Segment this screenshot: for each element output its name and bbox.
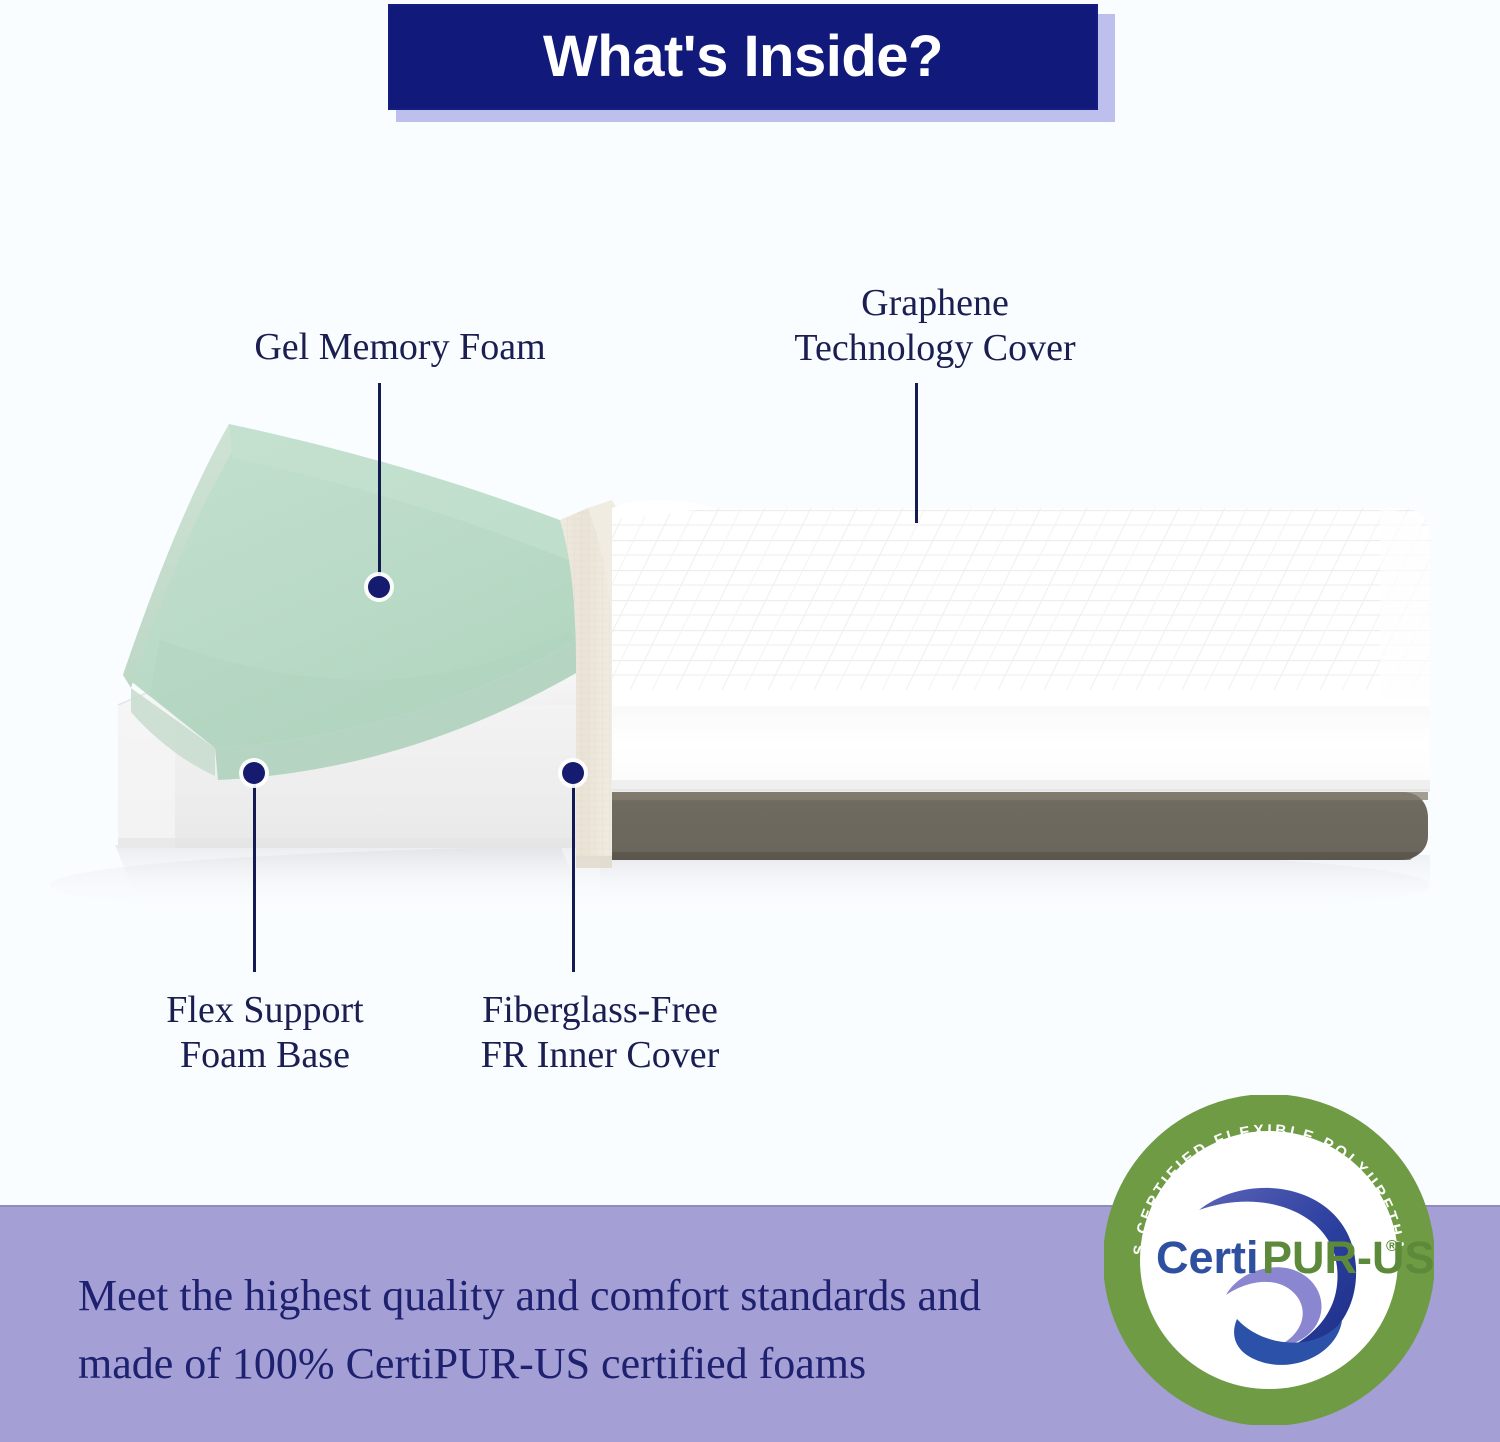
badge-wordmark-purus: PUR-US: [1262, 1232, 1434, 1283]
mattress-base-band: [612, 792, 1428, 860]
callout-dot-gel-memory-foam: [368, 576, 390, 598]
callout-leader-flex-support-foam-base: [253, 782, 256, 972]
infographic-canvas: What's Inside?: [0, 0, 1500, 1442]
certipur-us-badge: CONTAINS CERTIFIED FLEXIBLE POLYURETHANE…: [1104, 1095, 1434, 1425]
callout-dot-flex-support-foam-base: [243, 762, 265, 784]
header-banner: What's Inside?: [388, 4, 1098, 110]
flex-support-foam-base-layer: [118, 672, 600, 848]
callout-label-flex-support-foam-base: Flex Support Foam Base: [105, 988, 425, 1078]
badge-registered-mark: ®: [1386, 1238, 1398, 1255]
gel-memory-foam-layer: [123, 424, 578, 780]
callout-dot-fr-inner-cover: [562, 762, 584, 784]
callout-label-fr-inner-cover: Fiberglass-Free FR Inner Cover: [420, 988, 780, 1078]
footer-text: Meet the highest quality and comfort sta…: [78, 1262, 1088, 1398]
callout-leader-gel-memory-foam: [378, 383, 381, 583]
callout-leader-graphene-technology-cover: [915, 383, 918, 523]
graphene-technology-cover-layer: [612, 500, 1430, 792]
mattress-illustration: [0, 0, 1500, 1160]
badge-wordmark-certi: Certi: [1156, 1232, 1259, 1283]
badge-wordmark: Certi PUR-US ®: [1156, 1232, 1434, 1283]
callout-label-gel-memory-foam: Gel Memory Foam: [180, 325, 620, 370]
page-title: What's Inside?: [543, 28, 943, 86]
callout-label-graphene-technology-cover: Graphene Technology Cover: [700, 281, 1170, 371]
callout-leader-fr-inner-cover: [572, 782, 575, 972]
